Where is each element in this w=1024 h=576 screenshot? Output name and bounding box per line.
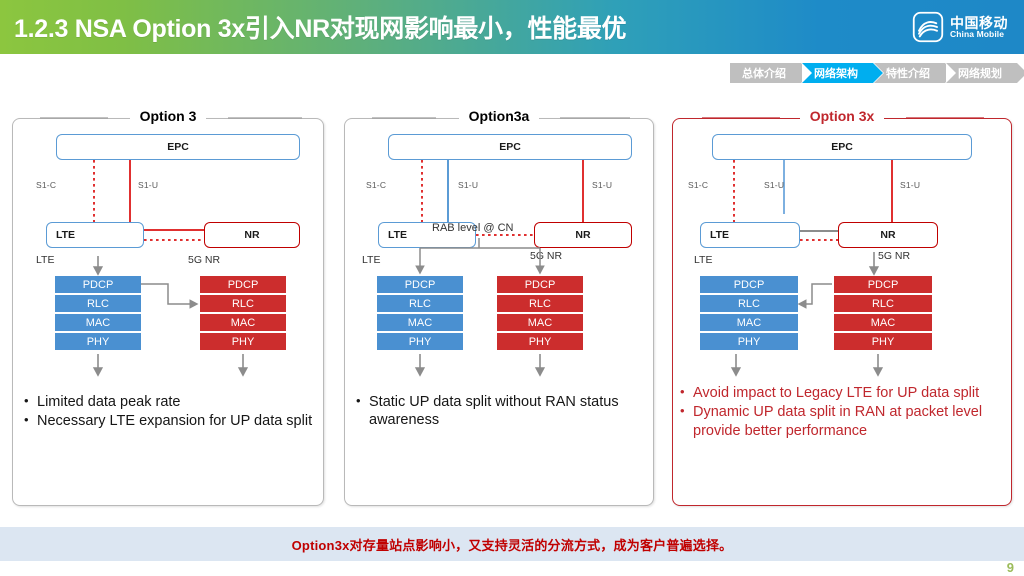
bullet-item: •Avoid impact to Legacy LTE for UP data … [680,384,1004,402]
page-title: 1.2.3 NSA Option 3x引入NR对现网影响最小，性能最优 [0,9,626,45]
bullets-option-3: •Limited data peak rate •Necessary LTE e… [24,393,314,432]
stack-exit-arrows [344,276,654,386]
split-tree-arrows [344,238,654,278]
protocol-stacks-option-3: LTE 5G NR PDCP RLC MAC PHY PDCP RLC MAC [12,276,324,396]
panel-title-text: Option3a [459,108,540,124]
panels-container: Option 3 EPC LTE NR S1-C S1-U LTE 5G N [0,108,1024,508]
page-number: 9 [1007,560,1014,575]
stack-entry-arrow [672,252,1012,278]
link-label-s1c: S1-C [36,180,56,190]
link-label-s1c: S1-C [366,180,386,190]
breadcrumb-item-0[interactable]: 总体介绍 [730,63,801,83]
bullet-dot: • [680,403,693,440]
panel-option-3: Option 3 EPC LTE NR S1-C S1-U LTE 5G N [12,108,324,506]
protocol-stacks-option-3x: LTE 5G NR PDCP RLC MAC PHY PDCP RLC MAC [672,276,1012,396]
split-arrow [12,276,324,386]
bullet-text: Dynamic UP data split in RAN at packet l… [693,403,1004,440]
bullet-item: •Necessary LTE expansion for UP data spl… [24,412,314,430]
link-label-s1u-nr: S1-U [900,180,920,190]
bullet-dot: • [356,393,369,430]
bullet-text: Limited data peak rate [37,393,180,411]
link-label-s1u-nr: S1-U [592,180,612,190]
china-mobile-logo-icon [913,12,943,42]
breadcrumb[interactable]: 总体介绍 网络架构 特性介绍 网络规划 [730,63,1018,83]
panel-option-3a: Option3a EPC LTE NR S1-C S1-U S1-U RAB l… [344,108,654,506]
network-diagram-option-3: EPC LTE NR S1-C S1-U [12,134,324,254]
split-arrow [672,276,1012,386]
link-label-s1u-lte: S1-U [458,180,478,190]
logo-text-en: China Mobile [950,30,1008,39]
network-diagram-option-3x: EPC LTE NR S1-C S1-U S1-U [672,134,1012,254]
bullet-text: Necessary LTE expansion for UP data spli… [37,412,312,430]
panel-title-text: Option 3x [800,108,885,124]
bullet-item: •Dynamic UP data split in RAN at packet … [680,403,1004,440]
footer-band: Option3x对存量站点影响小，又支持灵活的分流方式，成为客户普遍选择。 [0,527,1024,561]
bullet-dot: • [24,412,37,430]
link-label-s1u: S1-U [138,180,158,190]
brand-logo: 中国移动 China Mobile [913,12,1024,42]
breadcrumb-item-3[interactable]: 网络规划 [946,63,1017,83]
stack-entry-arrow [12,256,324,278]
panel-option-3x-title: Option 3x [672,108,1012,124]
panel-option-3x: Option 3x EPC LTE NR S1-C S1-U S1-U LTE [672,108,1012,506]
footer-summary-text: Option3x对存量站点影响小，又支持灵活的分流方式，成为客户普遍选择。 [292,535,733,554]
panel-option-3-title: Option 3 [12,108,324,124]
bullets-option-3x: •Avoid impact to Legacy LTE for UP data … [680,384,1004,441]
bullet-text: Avoid impact to Legacy LTE for UP data s… [693,384,979,402]
panel-option-3a-title: Option3a [344,108,654,124]
protocol-stacks-option-3a: RAB level @ CN LTE 5G NR PDCP RLC MAC PH… [344,276,654,396]
bullets-option-3a: •Static UP data split without RAN status… [356,393,644,431]
link-label-s1c: S1-C [688,180,708,190]
bullet-item: •Limited data peak rate [24,393,314,411]
bullet-item: •Static UP data split without RAN status… [356,393,644,430]
network-links [672,134,1012,254]
breadcrumb-item-2[interactable]: 特性介绍 [874,63,945,83]
slide-header: 1.2.3 NSA Option 3x引入NR对现网影响最小，性能最优 中国移动… [0,0,1024,54]
panel-title-text: Option 3 [130,108,207,124]
slide: 1.2.3 NSA Option 3x引入NR对现网影响最小，性能最优 中国移动… [0,0,1024,576]
link-label-s1u-lte: S1-U [764,180,784,190]
split-label: RAB level @ CN [432,222,513,234]
network-links [12,134,324,254]
bullet-text: Static UP data split without RAN status … [369,393,644,430]
network-diagram-option-3a: EPC LTE NR S1-C S1-U S1-U [344,134,654,254]
breadcrumb-item-1[interactable]: 网络架构 [802,63,873,83]
logo-text-cn: 中国移动 [950,16,1008,30]
bullet-dot: • [24,393,37,411]
bullet-dot: • [680,384,693,402]
network-links [344,134,654,254]
